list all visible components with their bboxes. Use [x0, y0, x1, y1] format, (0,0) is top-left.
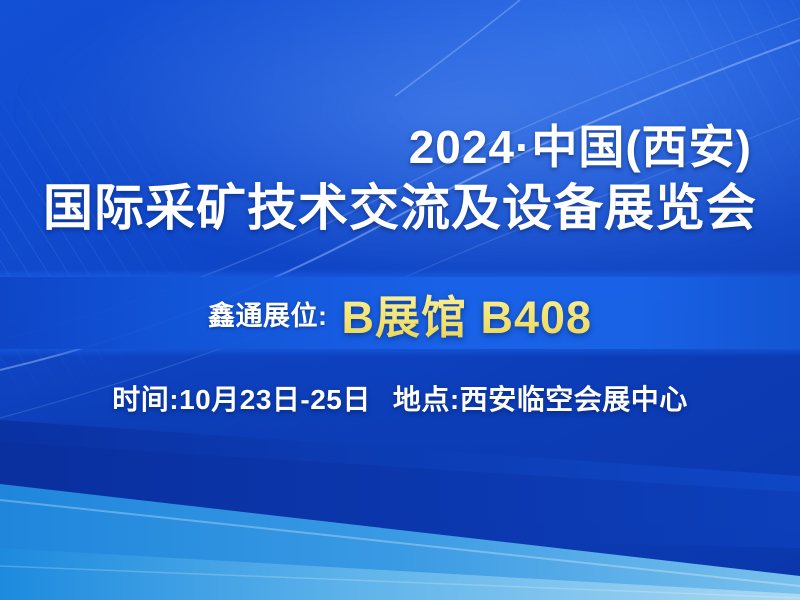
- headline-year: 2024·中国(西安): [409, 124, 752, 170]
- event-place: 地点:西安临空会展中心: [393, 378, 688, 418]
- exhibition-poster: 2024·中国(西安) 国际采矿技术交流及设备展览会 鑫通展位: B展馆 B40…: [0, 0, 800, 600]
- booth-number: B展馆 B408: [341, 281, 592, 346]
- headline-title: 国际采矿技术交流及设备展览会: [22, 182, 778, 234]
- event-time: 时间:10月23日-25日: [112, 378, 371, 418]
- meta-row: 时间:10月23日-25日 地点:西安临空会展中心: [0, 378, 800, 418]
- booth-row: 鑫通展位: B展馆 B408: [0, 281, 800, 345]
- poster-content: 2024·中国(西安) 国际采矿技术交流及设备展览会 鑫通展位: B展馆 B40…: [0, 0, 800, 600]
- booth-label: 鑫通展位:: [208, 294, 328, 333]
